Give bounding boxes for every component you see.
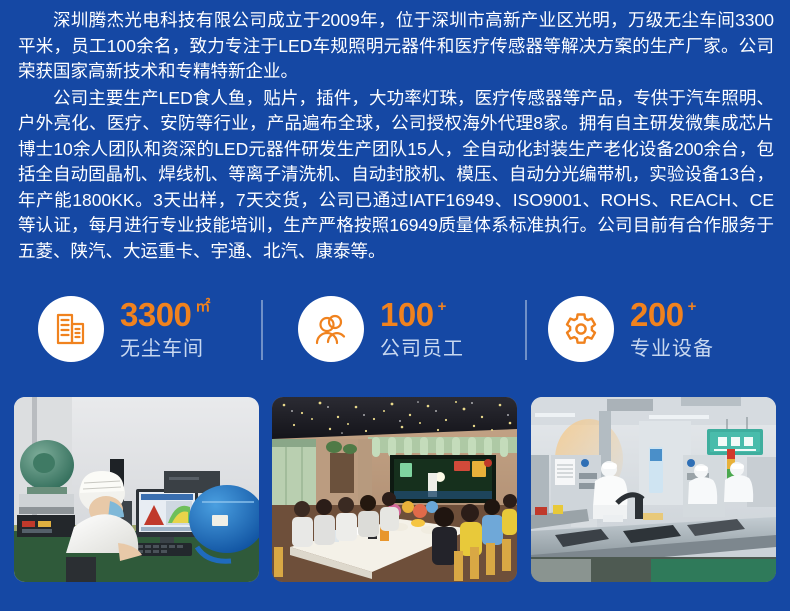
description-paragraph-1: 深圳腾杰光电科技有限公司成立于2009年，位于深圳市高新产业区光明，万级无尘车间… <box>18 8 774 85</box>
gear-icon <box>548 296 614 362</box>
stats-divider-2 <box>525 300 527 360</box>
stat-suffix-employees: + <box>438 299 447 314</box>
stat-suffix-equipment: + <box>688 299 697 314</box>
stat-text-equipment: 200 + 专业设备 <box>630 298 714 361</box>
stats-divider-1 <box>261 300 263 360</box>
stat-number-equipment: 200 <box>630 298 684 332</box>
company-description: 深圳腾杰光电科技有限公司成立于2009年，位于深圳市高新产业区光明，万级无尘车间… <box>18 8 774 264</box>
stat-text-employees: 100 + 公司员工 <box>380 298 464 361</box>
photo-gallery <box>0 397 790 583</box>
people-icon <box>298 296 364 362</box>
stat-number-cleanroom: 3300 <box>120 298 191 332</box>
stats-row: 3300 ㎡ 无尘车间 100 <box>0 286 790 372</box>
stat-value-line-cleanroom: 3300 ㎡ <box>120 298 210 332</box>
description-paragraph-2: 公司主要生产LED食人鱼，贴片，插件，大功率灯珠，医疗传感器等产品，专供于汽车照… <box>18 86 774 265</box>
photo-lab-testing <box>14 397 259 582</box>
stat-item-cleanroom: 3300 ㎡ 无尘车间 <box>38 286 210 372</box>
building-icon <box>38 296 104 362</box>
stat-label-equipment: 专业设备 <box>630 337 714 361</box>
stat-label-employees: 公司员工 <box>380 337 464 361</box>
stat-suffix-cleanroom: ㎡ <box>195 299 210 314</box>
stat-value-line-equipment: 200 + <box>630 298 714 332</box>
company-profile-banner: 深圳腾杰光电科技有限公司成立于2009年，位于深圳市高新产业区光明，万级无尘车间… <box>0 0 790 611</box>
stat-item-equipment: 200 + 专业设备 <box>548 286 714 372</box>
stat-item-employees: 100 + 公司员工 <box>298 286 464 372</box>
stat-label-cleanroom: 无尘车间 <box>120 337 210 361</box>
stat-text-cleanroom: 3300 ㎡ 无尘车间 <box>120 298 210 361</box>
photo-cleanroom-production <box>531 397 776 582</box>
stat-value-line-employees: 100 + <box>380 298 464 332</box>
stat-number-employees: 100 <box>380 298 434 332</box>
photo-company-event <box>272 397 517 582</box>
